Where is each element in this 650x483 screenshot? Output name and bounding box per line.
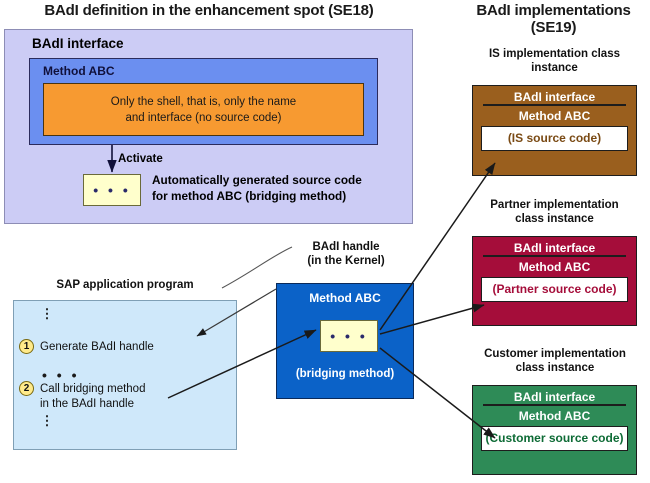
badi-interface-label: BAdI interface <box>32 36 124 51</box>
step-2-line-1: Call bridging method <box>40 383 145 395</box>
is-caption-line-2: instance <box>531 62 578 74</box>
is-caption-line-1: IS implementation class <box>489 48 620 60</box>
method-abc-label: Method ABC <box>43 64 115 78</box>
partner-caption-line-1: Partner implementation <box>490 199 618 211</box>
step-1-label: Generate BAdI handle <box>40 340 154 355</box>
badi-handle-title-line-1: BAdI handle <box>312 241 379 253</box>
sap-dots-top: ⋮ <box>36 311 58 329</box>
sap-application-title: SAP application program <box>13 278 237 292</box>
partner-interface-label: BAdI interface <box>473 237 636 255</box>
generated-dots: • • • <box>93 187 130 193</box>
partner-implementation-box: BAdI interface Method ABC (Partner sourc… <box>472 236 637 326</box>
partner-implementation-caption: Partner implementation class instance <box>462 198 647 226</box>
shell-description-box: Only the shell, that is, only the name a… <box>43 83 364 136</box>
se19-title: BAdI implementations (SE19) <box>457 2 650 36</box>
handle-dots: • • • <box>330 333 367 339</box>
badi-handle-title-line-2: (in the Kernel) <box>307 255 384 267</box>
customer-implementation-box: BAdI interface Method ABC (Customer sour… <box>472 385 637 475</box>
partner-caption-line-2: class instance <box>515 213 594 225</box>
shell-line-1: Only the shell, that is, only the name <box>111 96 296 108</box>
is-implementation-box: BAdI interface Method ABC (IS source cod… <box>472 85 637 176</box>
shell-line-2: and interface (no source code) <box>126 112 282 124</box>
step-2-badge: 2 <box>19 381 34 396</box>
is-implementation-caption: IS implementation class instance <box>462 47 647 75</box>
badi-handle-title: BAdI handle (in the Kernel) <box>276 240 416 268</box>
step-1-badge: 1 <box>19 339 34 354</box>
shell-description-text: Only the shell, that is, only the name a… <box>111 94 296 126</box>
handle-bridging-box: • • • <box>320 320 378 352</box>
sap-mid-dots: • • • <box>42 372 79 378</box>
customer-source-code-box: (Customer source code) <box>481 426 628 451</box>
is-method-label: Method ABC <box>473 106 636 123</box>
handle-method-label: Method ABC <box>276 291 414 305</box>
generated-line-1: Automatically generated source code <box>152 173 362 187</box>
customer-implementation-caption: Customer implementation class instance <box>460 347 650 375</box>
generated-line-2: for method ABC (bridging method) <box>152 189 346 203</box>
partner-method-label: Method ABC <box>473 257 636 274</box>
sap-dots-bottom: ⋮ <box>36 418 58 436</box>
generated-method-box: • • • <box>83 174 141 206</box>
handle-bridging-label: (bridging method) <box>276 368 414 380</box>
is-interface-label: BAdI interface <box>473 86 636 104</box>
customer-interface-label: BAdI interface <box>473 386 636 404</box>
generated-source-code-text: Automatically generated source code for … <box>152 172 362 204</box>
partner-source-code-box: (Partner source code) <box>481 277 628 302</box>
customer-method-label: Method ABC <box>473 406 636 423</box>
se18-title: BAdI definition in the enhancement spot … <box>0 2 418 19</box>
customer-caption-line-1: Customer implementation <box>484 348 626 360</box>
customer-caption-line-2: class instance <box>516 362 595 374</box>
activate-label: Activate <box>118 153 163 165</box>
is-source-code-box: (IS source code) <box>481 126 628 151</box>
se19-title-line-1: BAdI implementations <box>476 2 630 19</box>
step-2-line-2: in the BAdI handle <box>40 398 134 410</box>
step-2-label: Call bridging method in the BAdI handle <box>40 382 145 411</box>
se19-title-line-2: (SE19) <box>531 19 577 36</box>
